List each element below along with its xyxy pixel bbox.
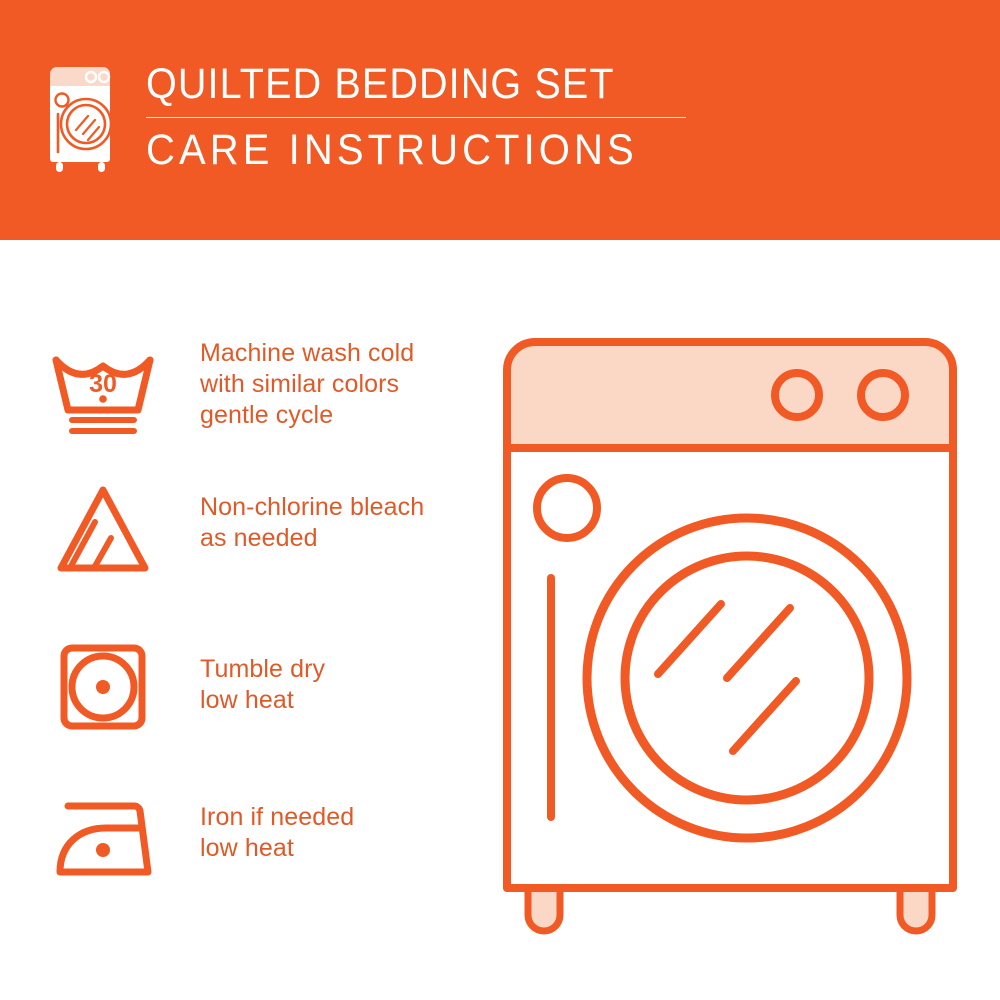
care-text-line: with similar colors [200, 369, 414, 400]
care-text-line: Machine wash cold [200, 338, 414, 369]
care-instruction-list: 30 Machine wash cold with similar colors… [0, 240, 500, 1000]
care-instruction-row: Non-chlorine bleach as needed [48, 478, 488, 582]
care-instruction-text: Machine wash cold with similar colors ge… [200, 338, 414, 431]
care-text-line: as needed [200, 523, 424, 554]
care-text-line: low heat [200, 833, 354, 864]
wash-temperature-value: 30 [89, 370, 117, 398]
page-subtitle: CARE INSTRUCTIONS [146, 126, 648, 174]
header-content: QUILTED BEDDING SET CARE INSTRUCTIONS [44, 60, 686, 176]
care-instruction-row: Iron if needed low heat [48, 788, 488, 892]
header-band: QUILTED BEDDING SET CARE INSTRUCTIONS [0, 0, 1000, 240]
care-text-line: low heat [200, 685, 325, 716]
triangle-non-chlorine-bleach-icon [48, 478, 158, 582]
care-instruction-row: Tumble dry low heat [48, 638, 488, 742]
header-title-group: QUILTED BEDDING SET CARE INSTRUCTIONS [146, 60, 686, 174]
care-text-line: Iron if needed [200, 802, 354, 833]
care-text-line: gentle cycle [200, 400, 414, 431]
washing-machine-illustration [495, 330, 975, 940]
care-instruction-text: Tumble dry low heat [200, 638, 325, 716]
care-text-line: Non-chlorine bleach [200, 492, 424, 523]
care-instruction-text: Non-chlorine bleach as needed [200, 478, 424, 554]
iron-low-heat-icon [48, 788, 158, 892]
care-instruction-row: 30 Machine wash cold with similar colors… [48, 338, 488, 442]
care-instructions-infographic: QUILTED BEDDING SET CARE INSTRUCTIONS 30 [0, 0, 1000, 1000]
wash-tub-30-gentle-icon: 30 [48, 338, 158, 442]
title-divider [146, 117, 686, 118]
page-title: QUILTED BEDDING SET [146, 60, 643, 108]
care-text-line: Tumble dry [200, 654, 325, 685]
washing-machine-icon [44, 64, 122, 176]
control-panel [507, 342, 953, 448]
tumble-dry-low-heat-icon [48, 638, 158, 742]
care-instruction-text: Iron if needed low heat [200, 788, 354, 864]
